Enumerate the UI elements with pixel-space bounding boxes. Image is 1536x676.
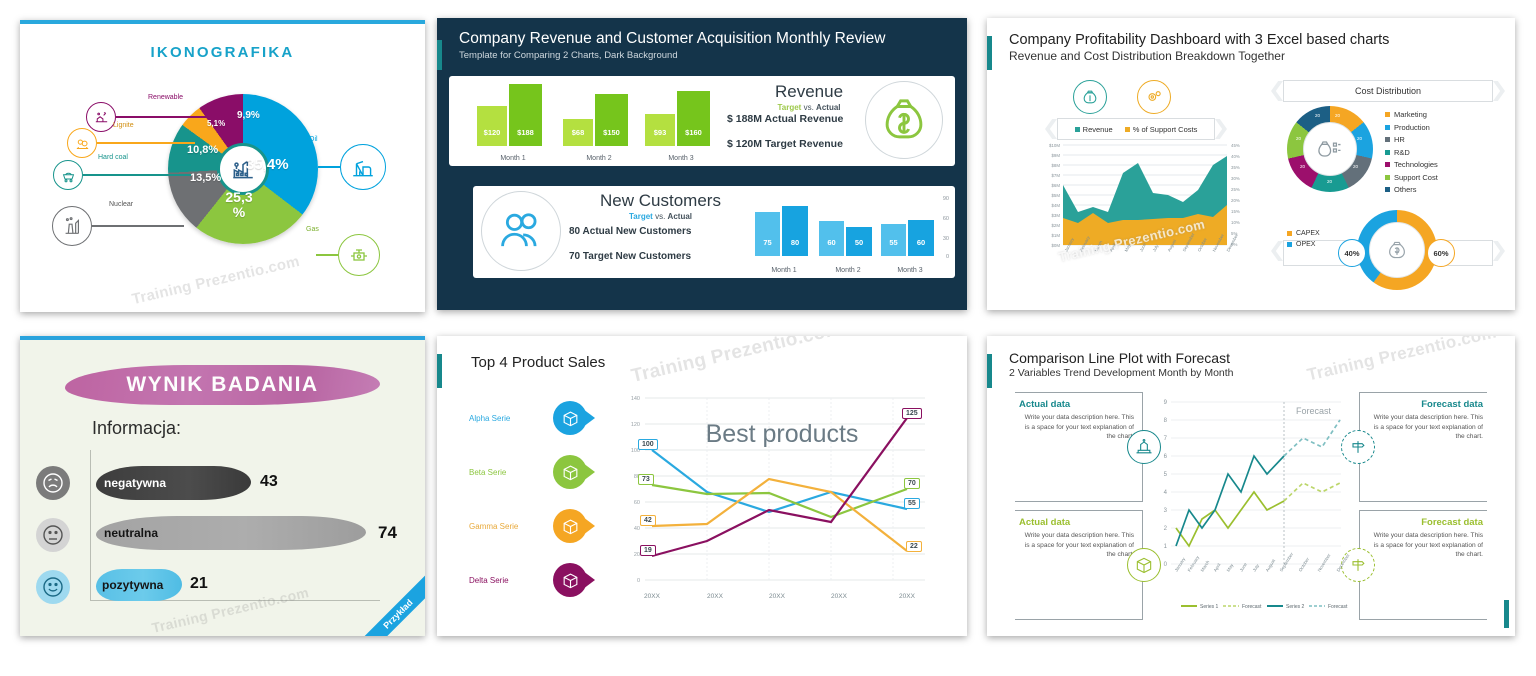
revenue-stat-target: $ 120M Target Revenue	[727, 138, 843, 150]
bar-actual-m2: $150	[595, 94, 628, 146]
category-month-1: Month 1	[477, 155, 549, 162]
svg-text:0: 0	[637, 578, 640, 584]
series-pin-gamma[interactable]: Gamma Serie	[469, 509, 587, 543]
donut-value-hr: 20	[1353, 164, 1358, 169]
svg-text:40: 40	[634, 526, 640, 532]
svg-text:Best products: Best products	[706, 420, 859, 448]
legend-oil[interactable]	[318, 144, 386, 190]
accent-bar	[437, 40, 442, 70]
svg-text:September: September	[1279, 551, 1295, 572]
bar-target-c1: 75	[755, 212, 780, 256]
coal-wagon-icon	[53, 160, 83, 190]
forecast-marker-label: Forecast	[1296, 406, 1332, 416]
lignite-icon	[67, 128, 97, 158]
svg-text:140: 140	[631, 396, 640, 402]
pie-label-renewable: 9,9%	[237, 110, 260, 121]
slide-header: Company Profitability Dashboard with 3 E…	[987, 18, 1515, 63]
cost-distribution-legend: Marketing Production HR R&D Technologies…	[1385, 110, 1438, 198]
svg-text:15%: 15%	[1231, 209, 1240, 214]
sad-face-icon	[36, 466, 70, 500]
card-body: Write your data description here. This i…	[1019, 413, 1134, 442]
category-c-month-2: Month 2	[819, 267, 877, 274]
category-month-2: Month 2	[563, 155, 635, 162]
slide-top-product-sales[interactable]: Top 4 Product Sales Training Prezentio.c…	[437, 336, 967, 636]
customers-vs-word: vs.	[655, 212, 665, 221]
datapoint-alpha-first: 100	[638, 439, 658, 450]
donut-value-technologies: 20	[1300, 164, 1305, 169]
watermark: Training Prezentio.com	[130, 253, 301, 308]
series-pin-delta[interactable]: Delta Serie	[469, 563, 587, 597]
page-title: Comparison Line Plot with Forecast	[1009, 350, 1515, 366]
svg-text:December: December	[1336, 552, 1351, 572]
happy-face-icon	[36, 570, 70, 604]
svg-text:20XX: 20XX	[831, 593, 848, 600]
bar-label-pozytywna: pozytywna	[102, 578, 163, 592]
cost-distribution-donut: 20 20 20 20 20 20 20	[1287, 106, 1373, 192]
legend-item-support-cost[interactable]: Support Cost	[1385, 173, 1438, 182]
svg-text:$4M: $4M	[1051, 203, 1060, 208]
card-heading: Actual data	[1019, 517, 1134, 528]
bar-label-negatywna: negatywna	[104, 476, 166, 490]
svg-text:$6M: $6M	[1051, 183, 1060, 188]
bar-label-neutralna: neutralna	[104, 526, 158, 540]
datapoint-beta-last: 70	[904, 478, 920, 489]
svg-text:August: August	[1265, 558, 1277, 573]
svg-text:20XX: 20XX	[644, 593, 661, 600]
legend-item-capex[interactable]: CAPEX	[1287, 230, 1320, 237]
svg-text:30%: 30%	[1231, 176, 1240, 181]
svg-text:35%: 35%	[1231, 165, 1240, 170]
card-heading: Forecast data	[1368, 517, 1483, 528]
svg-text:March: March	[1200, 559, 1211, 572]
svg-text:Series 1: Series 1	[1200, 604, 1219, 610]
revenue-vs-word: vs.	[804, 103, 814, 112]
donut-value-support: 20	[1296, 136, 1301, 141]
box-icon	[553, 509, 587, 543]
page-subtitle: Revenue and Cost Distribution Breakdown …	[1009, 49, 1515, 63]
slide-ikonografika[interactable]: IKONOGRAFIKA 35,4% 25,3 % 13,5% 10,8% 5,…	[20, 20, 425, 312]
legend-label-lignite: Lignite	[113, 122, 134, 129]
svg-text:9: 9	[1164, 400, 1168, 406]
legend-item-hr[interactable]: HR	[1385, 135, 1438, 144]
new-customers-panel: New Customers Target vs. Actual 80 Actua…	[473, 186, 955, 278]
page-subtitle: Template for Comparing 2 Charts, Dark Ba…	[459, 50, 967, 61]
bar-actual-c2: 50	[846, 227, 872, 256]
series-pin-beta[interactable]: Beta Serie	[469, 455, 587, 489]
svg-text:20XX: 20XX	[769, 593, 786, 600]
card-body: Write your data description here. This i…	[1019, 531, 1134, 560]
svg-text:8: 8	[1164, 418, 1168, 424]
page-title: WYNIK BADANIA	[65, 365, 380, 405]
svg-text:45%: 45%	[1231, 143, 1240, 148]
customers-actual-word: Actual	[668, 212, 692, 221]
slide-profitability-dashboard[interactable]: Company Profitability Dashboard with 3 E…	[987, 18, 1515, 310]
svg-text:120: 120	[631, 422, 640, 428]
bar-target-m3: $93	[645, 114, 675, 146]
donut-value-production: 20	[1357, 136, 1362, 141]
svg-text:$0M: $0M	[1051, 243, 1060, 248]
cost-distribution-ribbon: Cost Distribution	[1283, 80, 1493, 102]
svg-text:20XX: 20XX	[707, 593, 724, 600]
axis-line	[90, 450, 91, 600]
revenue-actual-word: Actual	[816, 103, 840, 112]
bar-value-pozytywna: 21	[190, 575, 208, 593]
page-title: Company Profitability Dashboard with 3 E…	[1009, 32, 1515, 48]
customers-bar-chart: 75 80 Month 1 60 50 Month 2 55 60 Month …	[751, 188, 921, 278]
svg-text:November: November	[1317, 552, 1332, 572]
legend-item-marketing[interactable]: Marketing	[1385, 110, 1438, 119]
legend-label-hard-coal: Hard coal	[98, 154, 128, 161]
two-people-icon	[481, 191, 561, 271]
accent-bar	[437, 354, 442, 388]
legend-revenue: Revenue	[1075, 125, 1113, 134]
capex-percent-badge: 60%	[1427, 239, 1455, 267]
svg-text:60: 60	[634, 500, 640, 506]
accent-bar	[987, 36, 992, 70]
svg-text:3: 3	[1164, 508, 1168, 514]
svg-text:$9M: $9M	[1051, 153, 1060, 158]
slide-header: Comparison Line Plot with Forecast 2 Var…	[987, 336, 1515, 379]
slide-wynik-badania[interactable]: WYNIK BADANIA Informacja: negatywna 43 n…	[20, 336, 425, 636]
svg-text:40%: 40%	[1231, 154, 1240, 159]
page-title: Top 4 Product Sales	[471, 354, 967, 371]
svg-text:$1M: $1M	[1051, 233, 1060, 238]
datapoint-gamma-last: 22	[906, 541, 922, 552]
datapoint-alpha-last: 55	[904, 498, 920, 509]
svg-text:$10M: $10M	[1049, 143, 1060, 148]
card-forecast-data-green[interactable]: Forecast data Write your data descriptio…	[1359, 510, 1487, 620]
slide-revenue-customer[interactable]: Company Revenue and Customer Acquisition…	[437, 18, 967, 310]
series-label-beta: Beta Serie	[469, 468, 535, 477]
svg-text:$3M: $3M	[1051, 213, 1060, 218]
legend-item-production[interactable]: Production	[1385, 123, 1438, 132]
svg-text:20XX: 20XX	[899, 593, 916, 600]
svg-text:Forecast: Forecast	[1242, 604, 1262, 610]
legend-label-renewable: Renewable	[148, 94, 183, 101]
ytick-90: 90	[943, 196, 949, 202]
donut-value-marketing: 20	[1335, 113, 1340, 118]
accent-bar-bottom	[1504, 600, 1509, 628]
series-label-alpha: Alpha Serie	[469, 414, 535, 423]
bar-actual-m1: $188	[509, 84, 542, 146]
category-month-3: Month 3	[645, 155, 717, 162]
svg-text:Forecast: Forecast	[1328, 604, 1348, 610]
bar-actual-m3: $160	[677, 91, 710, 146]
series-label-gamma: Gamma Serie	[469, 522, 535, 531]
area-legend-ribbon: Revenue % of Support Costs	[1057, 118, 1215, 140]
legend-item-rd[interactable]: R&D	[1385, 148, 1438, 157]
series-label-delta: Delta Serie	[469, 576, 535, 585]
svg-text:10%: 10%	[1231, 220, 1240, 225]
legend-item-others[interactable]: Others	[1385, 185, 1438, 194]
money-bag-icon	[1369, 222, 1425, 278]
ytick-60: 60	[943, 216, 949, 222]
bar-target-m1: $120	[477, 106, 507, 146]
bar-target-c2: 60	[819, 221, 844, 256]
bar-value-negatywna: 43	[260, 473, 278, 491]
datapoint-delta-last: 125	[902, 408, 922, 419]
legend-support-costs: % of Support Costs	[1125, 125, 1198, 134]
donut-value-others: 20	[1315, 113, 1320, 118]
legend-label-oil: Oil	[309, 136, 318, 143]
svg-text:June: June	[1239, 561, 1249, 572]
slide-gallery: IKONOGRAFIKA 35,4% 25,3 % 13,5% 10,8% 5,…	[0, 0, 1536, 676]
page-subtitle: 2 Variables Trend Development Month by M…	[1009, 367, 1515, 379]
pie-label-nuclear: 13,5%	[190, 172, 221, 184]
legend-item-opex[interactable]: OPEX	[1287, 241, 1320, 248]
card-body: Write your data description here. This i…	[1368, 413, 1483, 442]
revenue-target-word: Target	[777, 103, 801, 112]
svg-text:25%: 25%	[1231, 187, 1240, 192]
svg-text:Series 2: Series 2	[1286, 604, 1305, 610]
box-icon	[553, 563, 587, 597]
capex-opex-donut	[1357, 210, 1437, 290]
svg-text:$2M: $2M	[1051, 223, 1060, 228]
revenue-stat-actual: $ 188M Actual Revenue	[727, 113, 843, 125]
legend-hard-coal[interactable]	[53, 160, 191, 190]
nuclear-plant-icon	[52, 206, 92, 246]
cost-distribution-title: Cost Distribution	[1355, 86, 1421, 96]
svg-text:$5M: $5M	[1051, 193, 1060, 198]
money-bag-list-icon	[1303, 122, 1357, 176]
legend-item-technologies[interactable]: Technologies	[1385, 160, 1438, 169]
gas-valve-icon	[338, 234, 380, 276]
bar-target-c3: 55	[881, 224, 906, 256]
svg-text:5: 5	[1164, 472, 1168, 478]
capex-opex-legend: CAPEX OPEX	[1287, 230, 1320, 251]
svg-text:$8M: $8M	[1051, 163, 1060, 168]
card-heading: Forecast data	[1368, 399, 1483, 410]
svg-text:0: 0	[1164, 562, 1168, 568]
svg-text:6: 6	[1164, 454, 1168, 460]
svg-text:20%: 20%	[1231, 198, 1240, 203]
svg-text:7: 7	[1164, 436, 1168, 442]
donut-value-rd: 20	[1327, 179, 1332, 184]
datapoint-delta-first: 19	[640, 545, 656, 556]
datapoint-beta-first: 73	[638, 474, 654, 485]
gear-cost-icon	[1137, 80, 1171, 114]
slide-header: Company Revenue and Customer Acquisition…	[437, 18, 967, 69]
revenue-bar-chart: $120 $188 Month 1 $68 $150 Month 2 $93 $…	[467, 76, 717, 166]
slide-comparison-forecast[interactable]: Comparison Line Plot with Forecast 2 Var…	[987, 336, 1515, 636]
category-c-month-3: Month 3	[881, 267, 939, 274]
card-forecast-data-teal[interactable]: Forecast data Write your data descriptio…	[1359, 392, 1487, 502]
page-title: Company Revenue and Customer Acquisition…	[459, 30, 967, 48]
pie-label-gas: 25,3 %	[220, 190, 258, 219]
money-bag-cycle-icon	[1073, 80, 1107, 114]
ytick-0: 0	[946, 254, 949, 260]
legend-lignite[interactable]	[67, 128, 195, 158]
box-icon	[553, 401, 587, 435]
svg-text:February: February	[1187, 554, 1201, 572]
category-c-month-1: Month 1	[755, 267, 813, 274]
bar-value-neutralna: 74	[378, 523, 397, 543]
page-subtitle: Informacja:	[92, 418, 181, 439]
pie-label-oil: 35,4%	[246, 156, 289, 173]
legend-gas[interactable]	[316, 234, 380, 276]
svg-text:$7M: $7M	[1051, 173, 1060, 178]
datapoint-gamma-first: 42	[640, 515, 656, 526]
customers-target-word: Target	[629, 212, 653, 221]
card-body: Write your data description here. This i…	[1368, 531, 1483, 560]
series-pin-alpha[interactable]: Alpha Serie	[469, 401, 587, 435]
money-bag-cycle-icon	[865, 81, 943, 159]
page-title: IKONOGRAFIKA	[20, 44, 425, 61]
legend-nuclear[interactable]	[52, 206, 184, 246]
neutral-face-icon	[36, 518, 70, 552]
svg-text:1: 1	[1164, 544, 1168, 550]
box-icon	[553, 455, 587, 489]
chart-legend: Series 1 Forecast Series 2 Forecast	[1181, 604, 1348, 610]
bar-actual-c3: 60	[908, 220, 934, 256]
revenue-panel: $120 $188 Month 1 $68 $150 Month 2 $93 $…	[449, 76, 955, 166]
customers-stat-target: 70 Target New Customers	[569, 251, 691, 262]
revenue-area-chart: $10M$9M$8M $7M$6M$5M $4M$3M$2M $1M$0M 45…	[1035, 140, 1255, 270]
svg-text:4: 4	[1164, 490, 1168, 496]
revenue-heading: Revenue	[729, 82, 889, 102]
oil-pump-icon	[340, 144, 386, 190]
ytick-30: 30	[943, 236, 949, 242]
bar-target-m2: $68	[563, 119, 593, 146]
bar-actual-c1: 80	[782, 206, 808, 256]
accent-bar	[987, 354, 992, 388]
card-actual-data-teal[interactable]: Actual data Write your data description …	[1015, 392, 1143, 502]
best-products-line-chart: 140120100 806040 200 Best products 20XX2…	[607, 386, 947, 616]
card-actual-data-green[interactable]: Actual data Write your data description …	[1015, 510, 1143, 620]
legend-label-nuclear: Nuclear	[109, 201, 133, 208]
customers-stat-actual: 80 Actual New Customers	[569, 226, 691, 237]
opex-percent-badge: 40%	[1338, 239, 1366, 267]
customers-heading: New Customers	[573, 191, 748, 211]
svg-text:2: 2	[1164, 526, 1168, 532]
legend-label-gas: Gas	[306, 226, 319, 233]
card-heading: Actual data	[1019, 399, 1134, 410]
forecast-line-chart: Forecast 987 654 321 0 January February …	[1151, 392, 1351, 617]
